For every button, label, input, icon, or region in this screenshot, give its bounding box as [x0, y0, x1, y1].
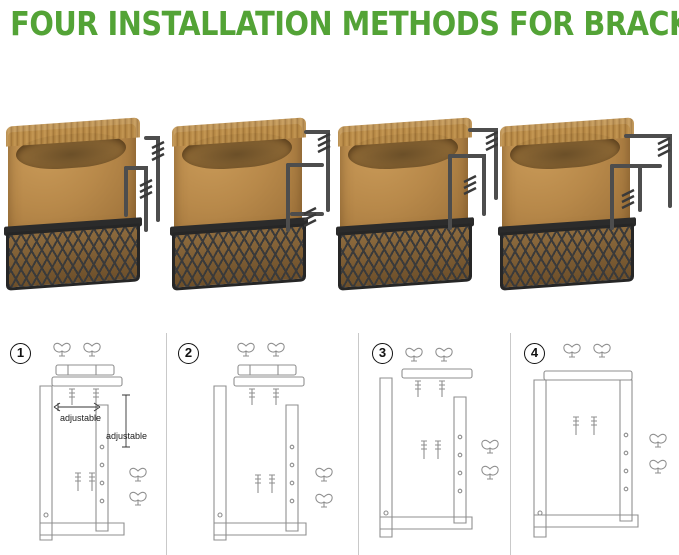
planter-photo-1	[6, 110, 166, 305]
planter-photo-4	[500, 110, 660, 305]
method-panel-2: 2	[166, 325, 358, 555]
method-drawing-4	[510, 325, 679, 555]
label-adjustable-vertical: adjustable	[106, 431, 147, 441]
bracket-hardware-2	[172, 110, 332, 305]
method-panel-4: 4	[510, 325, 679, 555]
planter-photo-3	[338, 110, 498, 305]
bracket-hardware-1	[6, 110, 166, 305]
page-title: FOUR INSTALLATION METHODS FOR BRACKET	[10, 4, 669, 43]
label-adjustable-horizontal: adjustable	[60, 413, 101, 423]
method-drawing-2	[166, 325, 358, 555]
bracket-hardware-3	[338, 110, 498, 305]
method-drawing-3	[358, 325, 510, 555]
page-root: FOUR INSTALLATION METHODS FOR BRACKET	[0, 0, 679, 555]
planter-photo-row	[0, 110, 679, 310]
installation-diagram-row: 1	[0, 325, 679, 555]
bracket-hardware-4	[500, 110, 678, 305]
planter-photo-2	[172, 110, 332, 305]
method-panel-3: 3	[358, 325, 510, 555]
method-panel-1: 1	[0, 325, 166, 555]
